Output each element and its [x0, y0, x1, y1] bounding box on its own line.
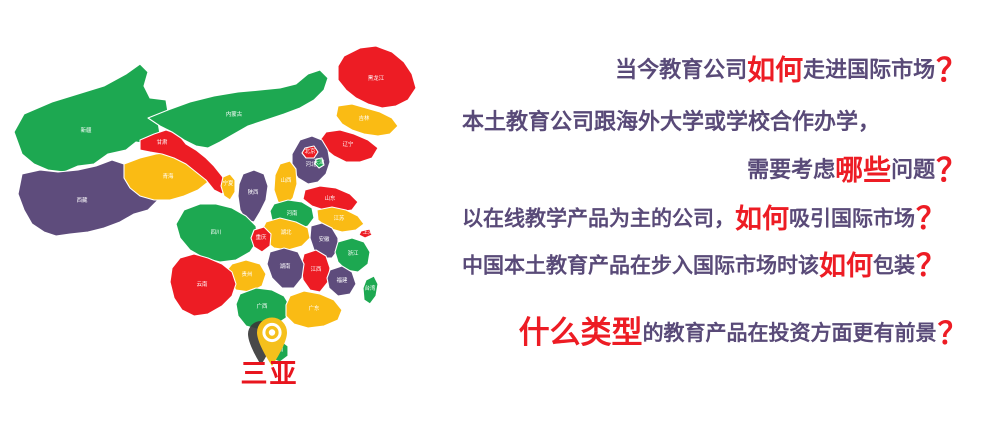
question-mark: ？ — [936, 151, 968, 189]
highlight-phrase: 如何 — [747, 54, 803, 87]
poster-canvas: 新疆西藏青海甘肃内蒙古黑龙江吉林辽宁河北北京天津宁夏山西陕西山东河南江苏上海安徽… — [0, 0, 1000, 429]
body-phrase: 问题 — [891, 158, 935, 183]
body-phrase: 走进国际市场 — [803, 58, 935, 83]
province-湖南[interactable] — [267, 248, 304, 288]
province-山西[interactable] — [274, 161, 297, 206]
province-新疆[interactable] — [14, 64, 168, 172]
question-mark: ？ — [936, 51, 968, 89]
china-map-svg: 新疆西藏青海甘肃内蒙古黑龙江吉林辽宁河北北京天津宁夏山西陕西山东河南江苏上海安徽… — [8, 14, 448, 374]
body-phrase: 本土教育公司跟海外大学或学校合作办学， — [462, 110, 880, 135]
province-黑龙江[interactable] — [338, 46, 416, 108]
headline-line-2: 本土教育公司跟海外大学或学校合作办学， — [462, 112, 880, 134]
province-台湾[interactable] — [363, 276, 378, 304]
headline-line-4: 以在线教学产品为主的公司，如何吸引国际市场？ — [462, 205, 968, 235]
question-mark: ？ — [938, 317, 968, 352]
headline-line-5: 中国本土教育产品在步入国际市场时该如何包装？ — [462, 252, 968, 282]
highlight-phrase: 如何 — [819, 251, 873, 282]
body-phrase: 需要考虑 — [747, 158, 835, 183]
headline-line-6: 什么类型的教育产品在投资方面更有前景？ — [519, 318, 968, 350]
body-phrase: 包装 — [873, 253, 915, 277]
province-江西[interactable] — [301, 250, 330, 292]
headline-line-1: 当今教育公司如何走进国际市场？ — [615, 55, 968, 87]
question-mark: ？ — [916, 249, 946, 284]
province-上海[interactable] — [359, 229, 372, 238]
headline-copy-block: 当今教育公司如何走进国际市场？ 本土教育公司跟海外大学或学校合作办学， 需要考虑… — [450, 0, 1000, 429]
province-河北[interactable] — [292, 136, 330, 184]
body-phrase: 中国本土教育产品在步入国际市场时该 — [462, 253, 819, 277]
headline-line-3: 需要考虑哪些问题？ — [747, 155, 968, 187]
province-重庆[interactable] — [251, 227, 271, 252]
city-label: 三亚 — [212, 352, 327, 391]
highlight-phrase: 如何 — [735, 204, 789, 235]
province-广东[interactable] — [286, 291, 342, 328]
body-phrase: 的教育产品在投资方面更有前景 — [643, 321, 937, 345]
highlight-phrase: 哪些 — [835, 154, 891, 187]
china-map-panel: 新疆西藏青海甘肃内蒙古黑龙江吉林辽宁河北北京天津宁夏山西陕西山东河南江苏上海安徽… — [0, 0, 450, 429]
question-mark: ？ — [916, 202, 946, 237]
body-phrase: 吸引国际市场 — [789, 206, 915, 230]
body-phrase: 当今教育公司 — [615, 58, 747, 83]
province-云南[interactable] — [170, 254, 236, 316]
body-phrase: 以在线教学产品为主的公司， — [462, 206, 735, 230]
highlight-phrase: 什么类型 — [519, 315, 643, 351]
province-宁夏[interactable] — [221, 174, 235, 200]
